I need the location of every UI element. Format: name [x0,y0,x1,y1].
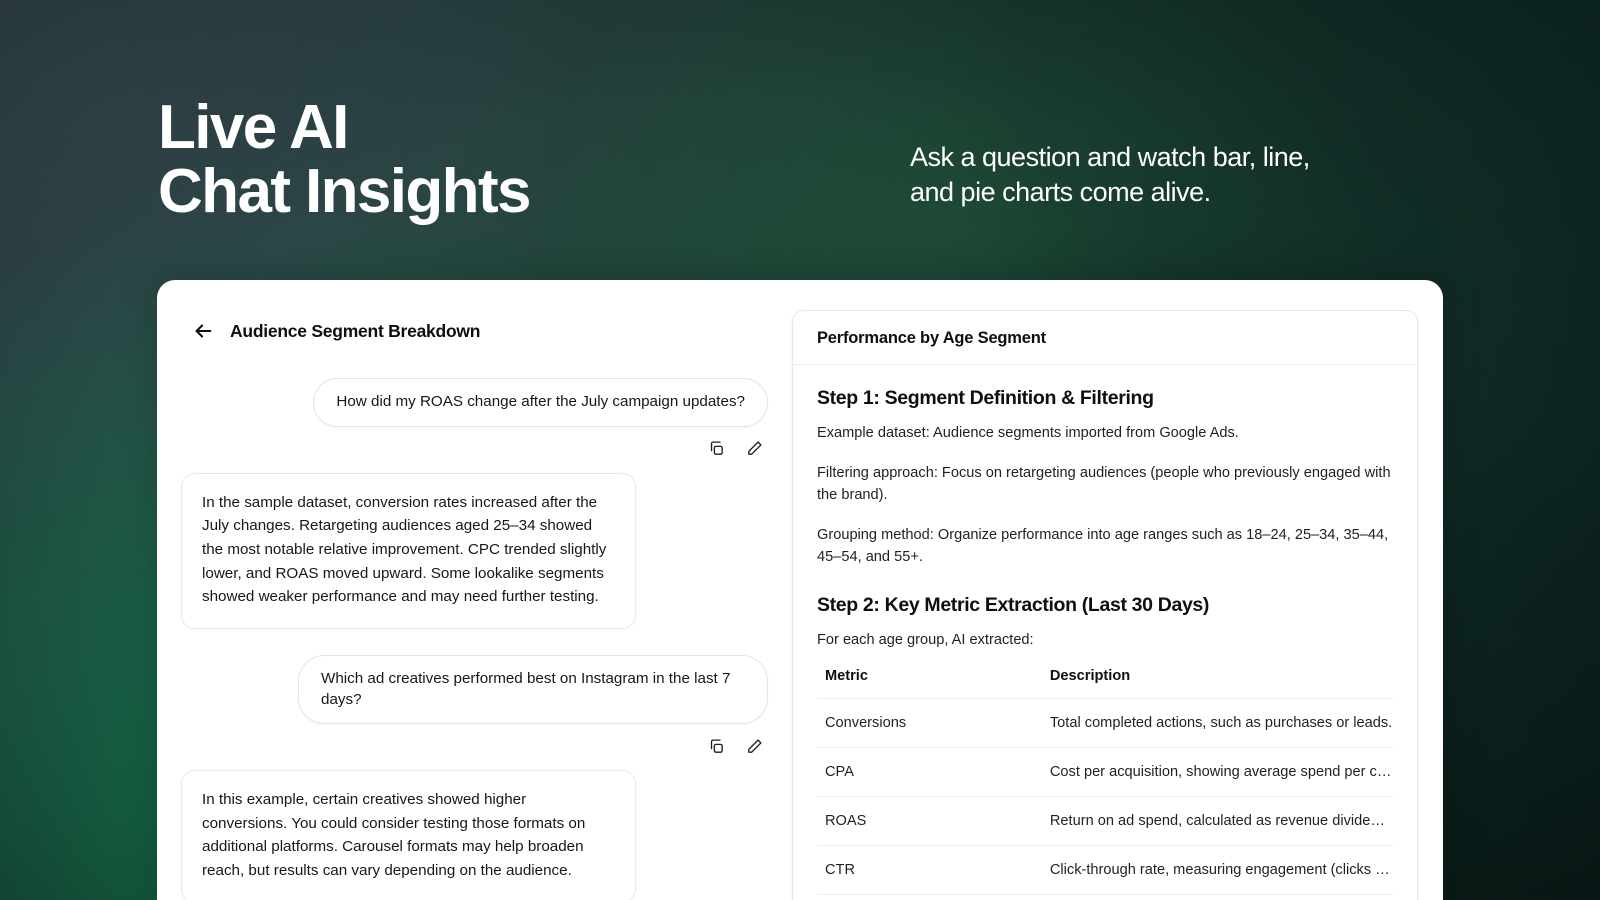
report-panel: Performance by Age Segment Step 1: Segme… [792,310,1418,900]
hero-section: Live AI Chat Insights Ask a question and… [0,0,1600,280]
report-panel-wrapper: Performance by Age Segment Step 1: Segme… [792,280,1443,900]
cell-description: Click-through rate, measuring engagement… [1036,846,1393,895]
spacer [181,629,768,655]
assistant-message-bubble: In this example, certain creatives showe… [181,770,636,900]
step-1-paragraph-filtering: Filtering approach: Focus on retargeting… [817,463,1393,507]
chat-title: Audience Segment Breakdown [230,321,480,342]
chat-header: Audience Segment Breakdown [181,314,768,348]
chat-message-assistant: In the sample dataset, conversion rates … [181,473,768,630]
report-body: Step 1: Segment Definition & Filtering E… [793,365,1417,895]
cell-metric: CPA [817,748,1036,797]
chat-message-user: Which ad creatives performed best on Ins… [181,655,768,724]
step-2-intro: For each age group, AI extracted: [817,630,1393,652]
cell-description: Return on ad spend, calculated as revenu… [1036,797,1393,846]
assistant-message-bubble: In the sample dataset, conversion rates … [181,473,636,630]
edit-pencil-icon[interactable] [744,439,764,459]
cell-metric: Conversions [817,699,1036,748]
page-subtitle: Ask a question and watch bar, line, and … [910,140,1310,209]
app-window: Audience Segment Breakdown How did my RO… [157,280,1443,900]
user-message-bubble[interactable]: How did my ROAS change after the July ca… [313,378,768,427]
table-row: CTR Click-through rate, measuring engage… [817,846,1393,895]
cell-description: Cost per acquisition, showing average sp… [1036,748,1393,797]
table-row: CPA Cost per acquisition, showing averag… [817,748,1393,797]
table-header-row: Metric Description [817,664,1393,699]
table-row: ROAS Return on ad spend, calculated as r… [817,797,1393,846]
step-1-heading: Step 1: Segment Definition & Filtering [817,387,1393,410]
metrics-table: Metric Description Conversions Total com… [817,664,1393,895]
cell-metric: CTR [817,846,1036,895]
page-title: Live AI Chat Insights [158,96,530,224]
cell-description: Total completed actions, such as purchas… [1036,699,1393,748]
table-row: Conversions Total completed actions, suc… [817,699,1393,748]
cell-metric: ROAS [817,797,1036,846]
chat-panel: Audience Segment Breakdown How did my RO… [157,280,792,900]
message-actions [181,439,768,459]
step-1-paragraph-dataset: Example dataset: Audience segments impor… [817,423,1393,445]
column-header-metric: Metric [817,664,1036,699]
user-message-bubble[interactable]: Which ad creatives performed best on Ins… [298,655,768,724]
arrow-left-icon[interactable] [191,319,215,343]
chat-message-assistant: In this example, certain creatives showe… [181,770,768,900]
report-header: Performance by Age Segment [793,311,1417,365]
edit-pencil-icon[interactable] [744,736,764,756]
copy-icon[interactable] [706,736,726,756]
copy-icon[interactable] [706,439,726,459]
step-2-heading: Step 2: Key Metric Extraction (Last 30 D… [817,594,1393,617]
chat-message-user: How did my ROAS change after the July ca… [181,378,768,427]
step-1-paragraph-grouping: Grouping method: Organize performance in… [817,525,1393,569]
message-actions [181,736,768,756]
column-header-description: Description [1036,664,1393,699]
report-title: Performance by Age Segment [817,329,1393,348]
chat-thread: How did my ROAS change after the July ca… [181,378,768,900]
